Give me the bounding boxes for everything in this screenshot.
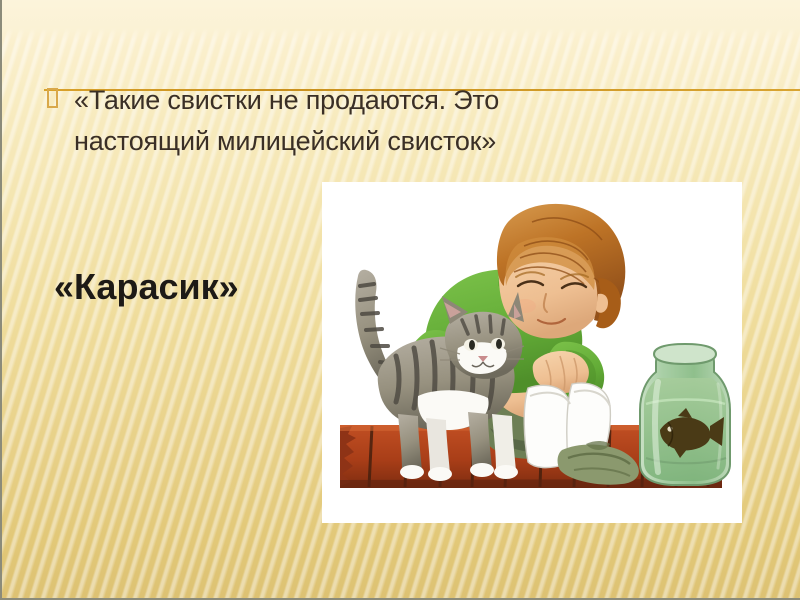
quote-text: «Такие свистки не продаются. Это настоящ…: [74, 80, 694, 162]
slide-top-band: [2, 0, 800, 40]
bullet-marker-icon: [47, 88, 58, 108]
presentation-slide: «Такие свистки не продаются. Это настоящ…: [0, 0, 800, 600]
page-title: «Карасик»: [54, 266, 239, 308]
illustration-canvas: [322, 182, 742, 523]
illustration-image: [322, 182, 742, 523]
